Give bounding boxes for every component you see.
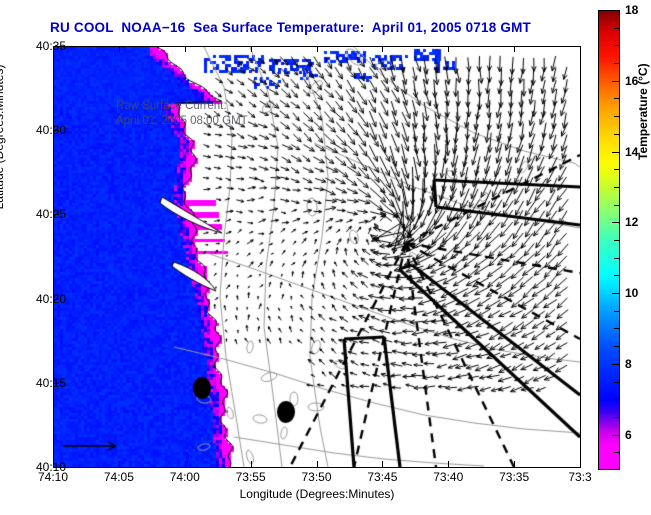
y-axis-tick-label: 40:35	[36, 39, 66, 53]
colorbar-minor-tick	[614, 452, 620, 453]
colorbar-minor-tick	[614, 346, 620, 347]
colorbar-tick-label: 6	[625, 428, 632, 442]
x-axis-tick-mark	[317, 461, 318, 467]
x-axis-tick-label: 74:05	[104, 470, 134, 484]
colorbar-minor-tick	[614, 275, 620, 276]
y-axis-tick-mark	[53, 383, 59, 384]
y-axis-tick-label: 40:30	[36, 123, 66, 137]
colorbar-minor-tick	[614, 399, 620, 400]
colorbar-tick-label: 16	[625, 74, 638, 88]
raw-current-annotation: Raw Surface Current: April 01, 2005 08:0…	[116, 99, 248, 129]
x-axis-tick-label: 73:35	[499, 470, 529, 484]
y-axis-tick-label: 40:20	[36, 292, 66, 306]
x-axis-tick-label: 74:00	[170, 470, 200, 484]
x-axis-label: Longitude (Degrees:Minutes)	[53, 487, 581, 501]
x-axis-tick-mark-top	[448, 46, 449, 52]
colorbar-minor-tick	[614, 382, 620, 383]
colorbar-minor-tick	[614, 311, 620, 312]
colorbar-minor-tick	[614, 63, 620, 64]
x-axis-tick-label: 74:10	[38, 470, 68, 484]
x-axis-tick-mark-top	[185, 46, 186, 52]
x-axis-tick-mark-top	[382, 46, 383, 52]
colorbar-minor-tick	[614, 258, 620, 259]
x-axis-tick-mark-top	[119, 46, 120, 52]
colorbar-tick-mark	[612, 222, 620, 223]
x-axis-tick-mark	[185, 461, 186, 467]
y-axis-tick-label: 40:15	[36, 376, 66, 390]
colorbar-tick-label: 18	[625, 3, 638, 17]
colorbar-minor-tick	[614, 116, 620, 117]
x-axis-tick-mark	[251, 461, 252, 467]
x-axis-tick-label: 73:55	[236, 470, 266, 484]
x-axis-tick-mark	[514, 461, 515, 467]
y-axis-tick-mark	[53, 130, 59, 131]
x-axis-tick-mark	[382, 461, 383, 467]
colorbar-tick-mark	[612, 435, 620, 436]
x-axis-tick-label: 73:45	[367, 470, 397, 484]
x-axis-tick-label: 73:50	[301, 470, 331, 484]
colorbar-minor-tick	[614, 240, 620, 241]
colorbar-tick-label: 14	[625, 145, 638, 159]
y-axis-tick-label: 40:25	[36, 207, 66, 221]
x-axis-tick-mark-top	[251, 46, 252, 52]
map-plot-area[interactable]: Raw Surface Current: April 01, 2005 08:0…	[53, 46, 581, 468]
colorbar-tick-mark	[612, 152, 620, 153]
colorbar-tick-mark	[612, 81, 620, 82]
x-axis-tick-mark	[119, 461, 120, 467]
colorbar-tick-mark	[612, 293, 620, 294]
y-axis-tick-mark	[53, 214, 59, 215]
y-axis-tick-mark	[53, 299, 59, 300]
colorbar-tick-mark	[612, 10, 620, 11]
x-axis-tick-mark	[448, 461, 449, 467]
x-axis-tick-label: 73:40	[433, 470, 463, 484]
colorbar-tick-label: 8	[625, 357, 632, 371]
colorbar-minor-tick	[614, 28, 620, 29]
page-title: RU COOL NOAA−16 Sea Surface Temperature:…	[0, 20, 581, 35]
x-axis-tick-mark-top	[317, 46, 318, 52]
colorbar-tick-mark	[612, 364, 620, 365]
colorbar-minor-tick	[614, 328, 620, 329]
colorbar-minor-tick	[614, 169, 620, 170]
colorbar-minor-tick	[614, 134, 620, 135]
colorbar-minor-tick	[614, 45, 620, 46]
colorbar-minor-tick	[614, 417, 620, 418]
x-axis-tick-label: 73:3	[568, 470, 591, 484]
colorbar-minor-tick	[614, 205, 620, 206]
colorbar-tick-label: 10	[625, 286, 638, 300]
x-axis-tick-mark-top	[514, 46, 515, 52]
y-axis-label: Latitude (Degrees:Minutes)	[0, 17, 6, 257]
colorbar-tick-label: 12	[625, 215, 638, 229]
colorbar-minor-tick	[614, 187, 620, 188]
colorbar-minor-tick	[614, 98, 620, 99]
